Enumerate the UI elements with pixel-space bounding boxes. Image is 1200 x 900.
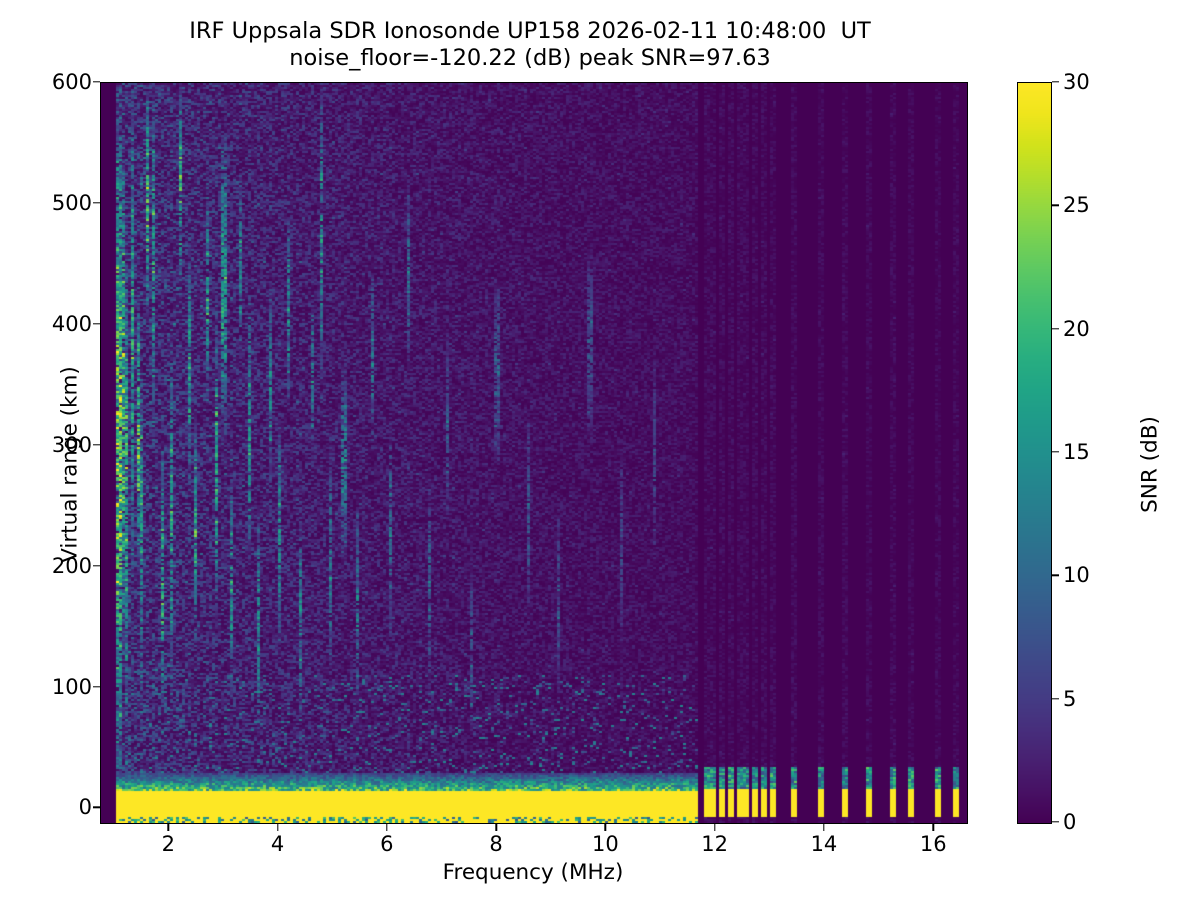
colorbar-tick-label: 5	[1063, 687, 1076, 711]
y-tick-mark	[93, 686, 100, 687]
x-tick-label: 12	[701, 832, 728, 856]
y-tick-mark	[93, 444, 100, 445]
x-tick-label: 6	[380, 832, 393, 856]
x-tick-label: 14	[811, 832, 838, 856]
x-axis-label: Frequency (MHz)	[100, 860, 966, 885]
y-tick-label: 0	[79, 795, 92, 819]
y-axis-label: Virtual range (km)	[58, 315, 83, 615]
ionogram-plot-area	[100, 82, 968, 824]
x-tick-label: 10	[592, 832, 619, 856]
colorbar-tick-mark	[1052, 328, 1059, 329]
colorbar-tick-label: 25	[1063, 193, 1090, 217]
x-tick-mark	[714, 824, 715, 831]
figure-title: IRF Uppsala SDR Ionosonde UP158 2026-02-…	[0, 18, 1060, 73]
y-tick-mark	[93, 807, 100, 808]
x-tick-label: 2	[162, 832, 175, 856]
ionogram-figure: IRF Uppsala SDR Ionosonde UP158 2026-02-…	[0, 0, 1200, 900]
title-line-1: IRF Uppsala SDR Ionosonde UP158 2026-02-…	[0, 18, 1060, 45]
x-tick-label: 4	[271, 832, 284, 856]
colorbar-tick-label: 30	[1063, 70, 1090, 94]
title-line-2: noise_floor=-120.22 (dB) peak SNR=97.63	[0, 45, 1060, 72]
y-tick-label: 500	[52, 191, 92, 215]
ionogram-heatmap	[101, 83, 967, 823]
x-tick-mark	[933, 824, 934, 831]
colorbar-gradient	[1018, 83, 1051, 823]
x-tick-mark	[386, 824, 387, 831]
colorbar-tick-mark	[1052, 575, 1059, 576]
y-tick-mark	[93, 565, 100, 566]
x-tick-mark	[605, 824, 606, 831]
x-tick-mark	[495, 824, 496, 831]
colorbar-tick-mark	[1052, 451, 1059, 452]
colorbar-tick-mark	[1052, 81, 1059, 82]
x-tick-mark	[823, 824, 824, 831]
colorbar-tick-label: 20	[1063, 317, 1090, 341]
colorbar-tick-label: 0	[1063, 810, 1076, 834]
colorbar-tick-label: 10	[1063, 563, 1090, 587]
colorbar-tick-mark	[1052, 821, 1059, 822]
colorbar-label: SNR (dB)	[1138, 315, 1163, 615]
colorbar-tick-label: 15	[1063, 440, 1090, 464]
y-tick-label: 600	[52, 70, 92, 94]
y-tick-mark	[93, 81, 100, 82]
y-tick-label: 100	[52, 675, 92, 699]
x-tick-mark	[168, 824, 169, 831]
colorbar-tick-mark	[1052, 698, 1059, 699]
colorbar-tick-mark	[1052, 205, 1059, 206]
x-tick-label: 8	[489, 832, 502, 856]
x-tick-label: 16	[920, 832, 947, 856]
x-tick-mark	[277, 824, 278, 831]
colorbar	[1017, 82, 1052, 824]
y-tick-mark	[93, 323, 100, 324]
y-tick-mark	[93, 202, 100, 203]
